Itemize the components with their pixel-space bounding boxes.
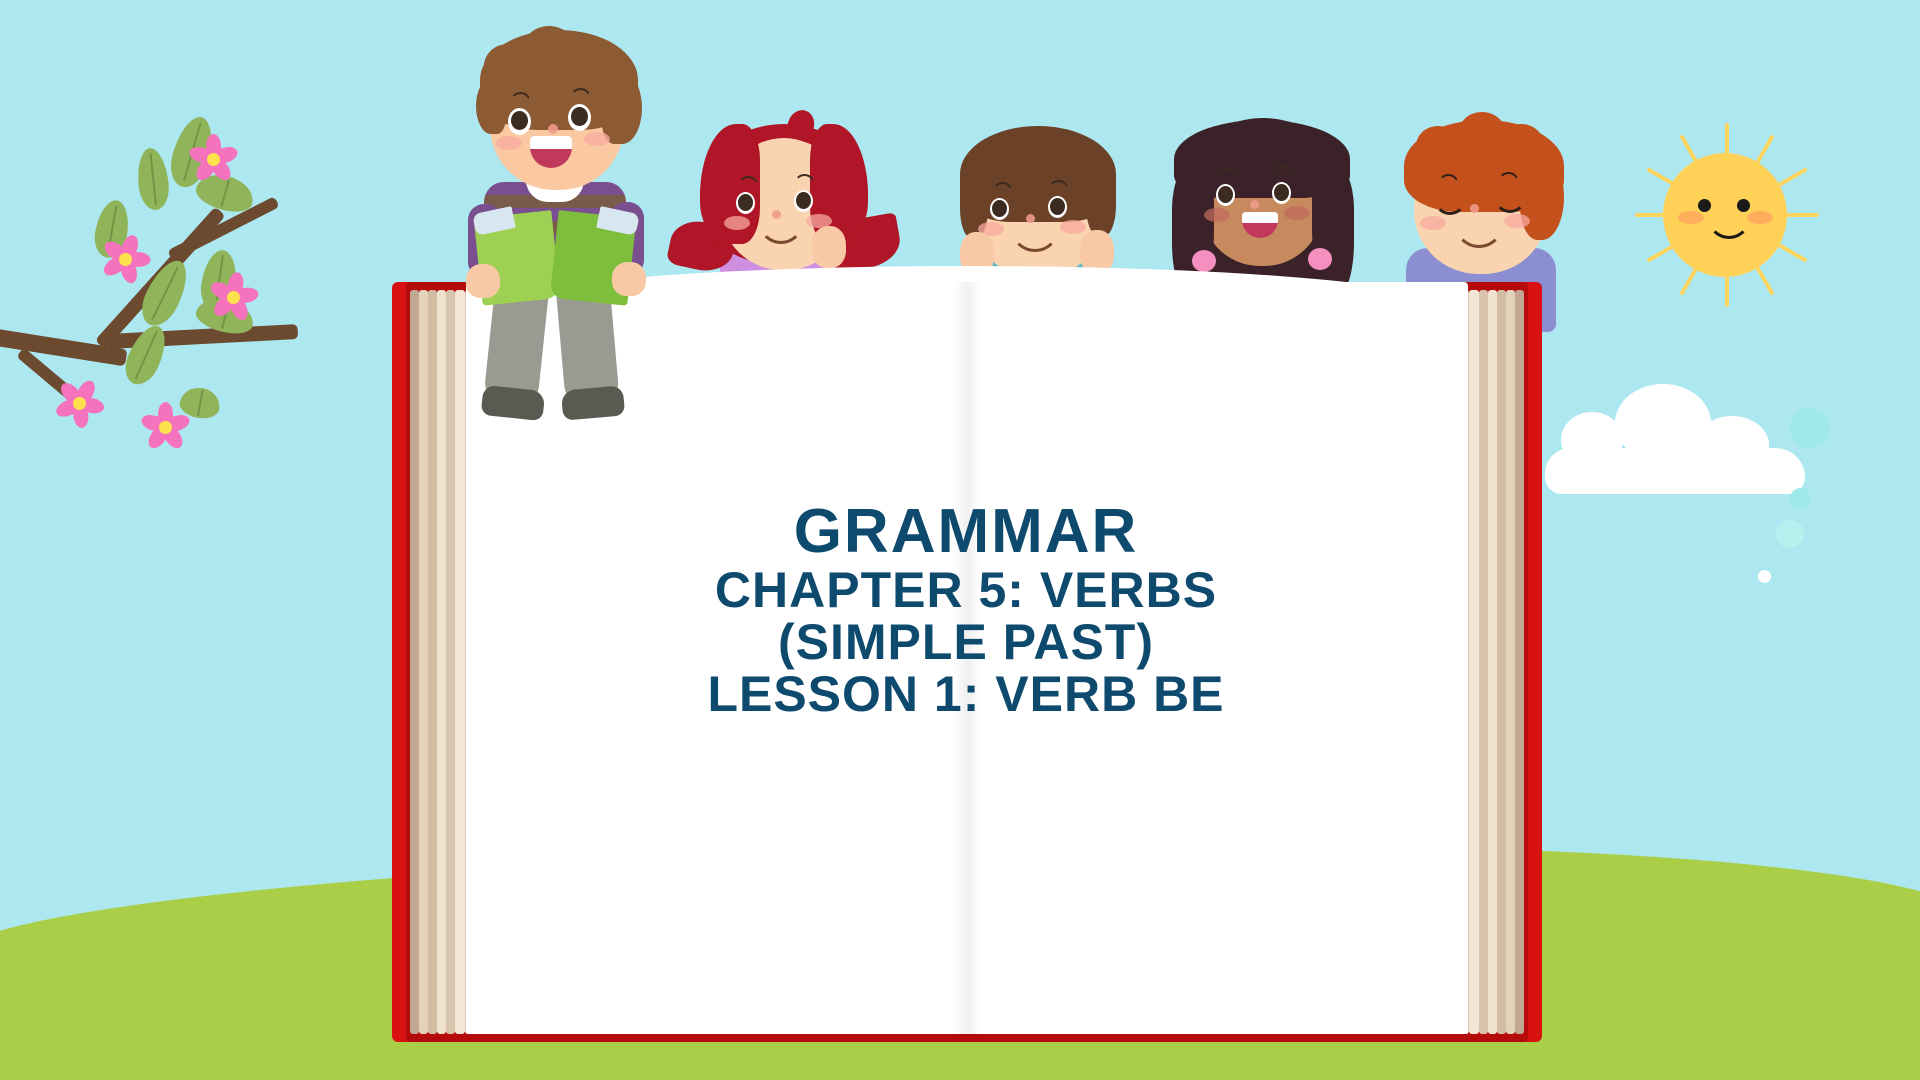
hand [812,226,846,268]
flower-branch-icon [0,110,250,430]
character-boy-reading-book [452,18,672,418]
sun-icon [1630,120,1820,310]
bubble-icon [1776,520,1804,548]
lesson-line: LESSON 1: VERB BE [466,668,1466,720]
bubble-icon [1790,408,1830,448]
slide-canvas: GRAMMAR CHAPTER 5: VERBS (SIMPLE PAST) L… [0,0,1920,1080]
bubble-icon [1765,470,1787,492]
bubble-icon [1790,488,1811,509]
hair-tie-left [1192,250,1216,272]
chapter-line: CHAPTER 5: VERBS [466,564,1466,616]
green-book-icon [478,214,632,306]
hair-tie-right [1308,248,1332,270]
page-title: GRAMMAR [466,500,1466,564]
bubble-icon [1758,570,1771,583]
sun-face [1663,153,1787,277]
page-title-block: GRAMMAR CHAPTER 5: VERBS (SIMPLE PAST) L… [466,500,1466,720]
tense-line: (SIMPLE PAST) [466,616,1466,668]
